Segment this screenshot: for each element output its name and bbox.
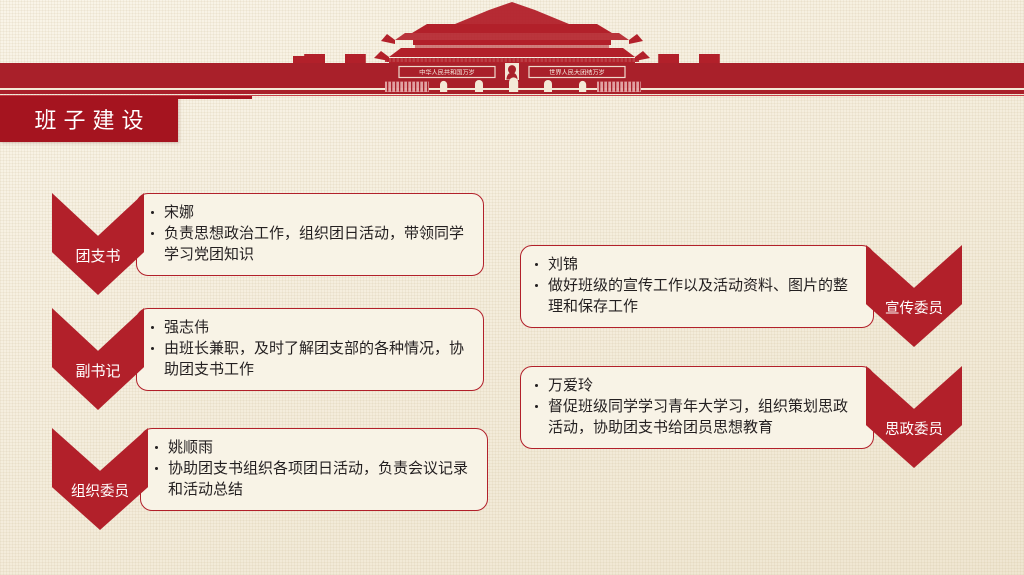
chevron-badge-sizhengweiyuan[interactable]: 思政委员 <box>866 366 962 468</box>
role-duty-item: 做好班级的宣传工作以及活动资料、图片的整理和保存工作 <box>531 276 861 317</box>
role-detail-callout: 宋娜 负责思想政治工作，组织团日活动，带领同学学习党团知识 <box>136 193 484 276</box>
role-position-label: 组织委员 <box>52 480 148 501</box>
header-red-band-lower <box>0 90 1024 94</box>
page-title-text: 班子建设 <box>27 103 150 135</box>
role-duty-item: 协助团支书组织各项团日活动，负责会议记录和活动总结 <box>151 459 475 500</box>
role-detail-callout: 姚顺雨 协助团支书组织各项团日活动，负责会议记录和活动总结 <box>140 428 488 511</box>
role-duty-item: 负责思想政治工作，组织团日活动，带领同学学习党团知识 <box>147 224 471 265</box>
slide-header: 中华人民共和国万岁 世界人民大团结万岁 <box>0 0 1024 100</box>
role-row-xuanchuanweiyuan[interactable]: 刘锦 做好班级的宣传工作以及活动资料、图片的整理和保存工作 宣传委员 <box>520 245 962 347</box>
role-position-label: 团支书 <box>52 245 144 266</box>
page-title: 班子建设 <box>0 96 178 142</box>
role-name-item: 万爱玲 <box>531 376 861 396</box>
role-duty-item: 由班长兼职，及时了解团支部的各种情况，协助团支书工作 <box>147 339 471 380</box>
role-name-item: 宋娜 <box>147 203 471 223</box>
role-detail-list: 宋娜 负责思想政治工作，组织团日活动，带领同学学习党团知识 <box>147 203 471 265</box>
role-name-item: 刘锦 <box>531 255 861 275</box>
role-detail-list: 姚顺雨 协助团支书组织各项团日活动，负责会议记录和活动总结 <box>151 438 475 500</box>
slide-canvas: 中华人民共和国万岁 世界人民大团结万岁 <box>0 0 1024 575</box>
title-underline <box>178 96 252 99</box>
role-detail-list: 万爱玲 督促班级同学学习青年大学习，组织策划思政活动，协助团支书给团员思想教育 <box>531 376 861 438</box>
role-detail-callout: 强志伟 由班长兼职，及时了解团支部的各种情况，协助团支书工作 <box>136 308 484 391</box>
role-row-tuanzhishu[interactable]: 团支书 宋娜 负责思想政治工作，组织团日活动，带领同学学习党团知识 <box>52 193 484 295</box>
role-position-label: 宣传委员 <box>866 297 962 318</box>
role-name-item: 姚顺雨 <box>151 438 475 458</box>
role-position-label: 副书记 <box>52 360 144 381</box>
role-row-sizhengweiyuan[interactable]: 万爱玲 督促班级同学学习青年大学习，组织策划思政活动，协助团支书给团员思想教育 … <box>520 366 962 468</box>
role-detail-callout: 万爱玲 督促班级同学学习青年大学习，组织策划思政活动，协助团支书给团员思想教育 <box>520 366 874 449</box>
chevron-badge-tuanzhishu[interactable]: 团支书 <box>52 193 144 295</box>
role-detail-list: 强志伟 由班长兼职，及时了解团支部的各种情况，协助团支书工作 <box>147 318 471 380</box>
chevron-badge-xuanchuanweiyuan[interactable]: 宣传委员 <box>866 245 962 347</box>
role-detail-list: 刘锦 做好班级的宣传工作以及活动资料、图片的整理和保存工作 <box>531 255 861 317</box>
chevron-badge-fushuji[interactable]: 副书记 <box>52 308 144 410</box>
role-duty-item: 督促班级同学学习青年大学习，组织策划思政活动，协助团支书给团员思想教育 <box>531 397 861 438</box>
role-row-zuzhiweiyuan[interactable]: 组织委员 姚顺雨 协助团支书组织各项团日活动，负责会议记录和活动总结 <box>52 428 488 530</box>
header-red-band <box>0 63 1024 88</box>
role-row-fushuji[interactable]: 副书记 强志伟 由班长兼职，及时了解团支部的各种情况，协助团支书工作 <box>52 308 484 410</box>
role-name-item: 强志伟 <box>147 318 471 338</box>
role-detail-callout: 刘锦 做好班级的宣传工作以及活动资料、图片的整理和保存工作 <box>520 245 874 328</box>
role-position-label: 思政委员 <box>866 418 962 439</box>
chevron-badge-zuzhiweiyuan[interactable]: 组织委员 <box>52 428 148 530</box>
